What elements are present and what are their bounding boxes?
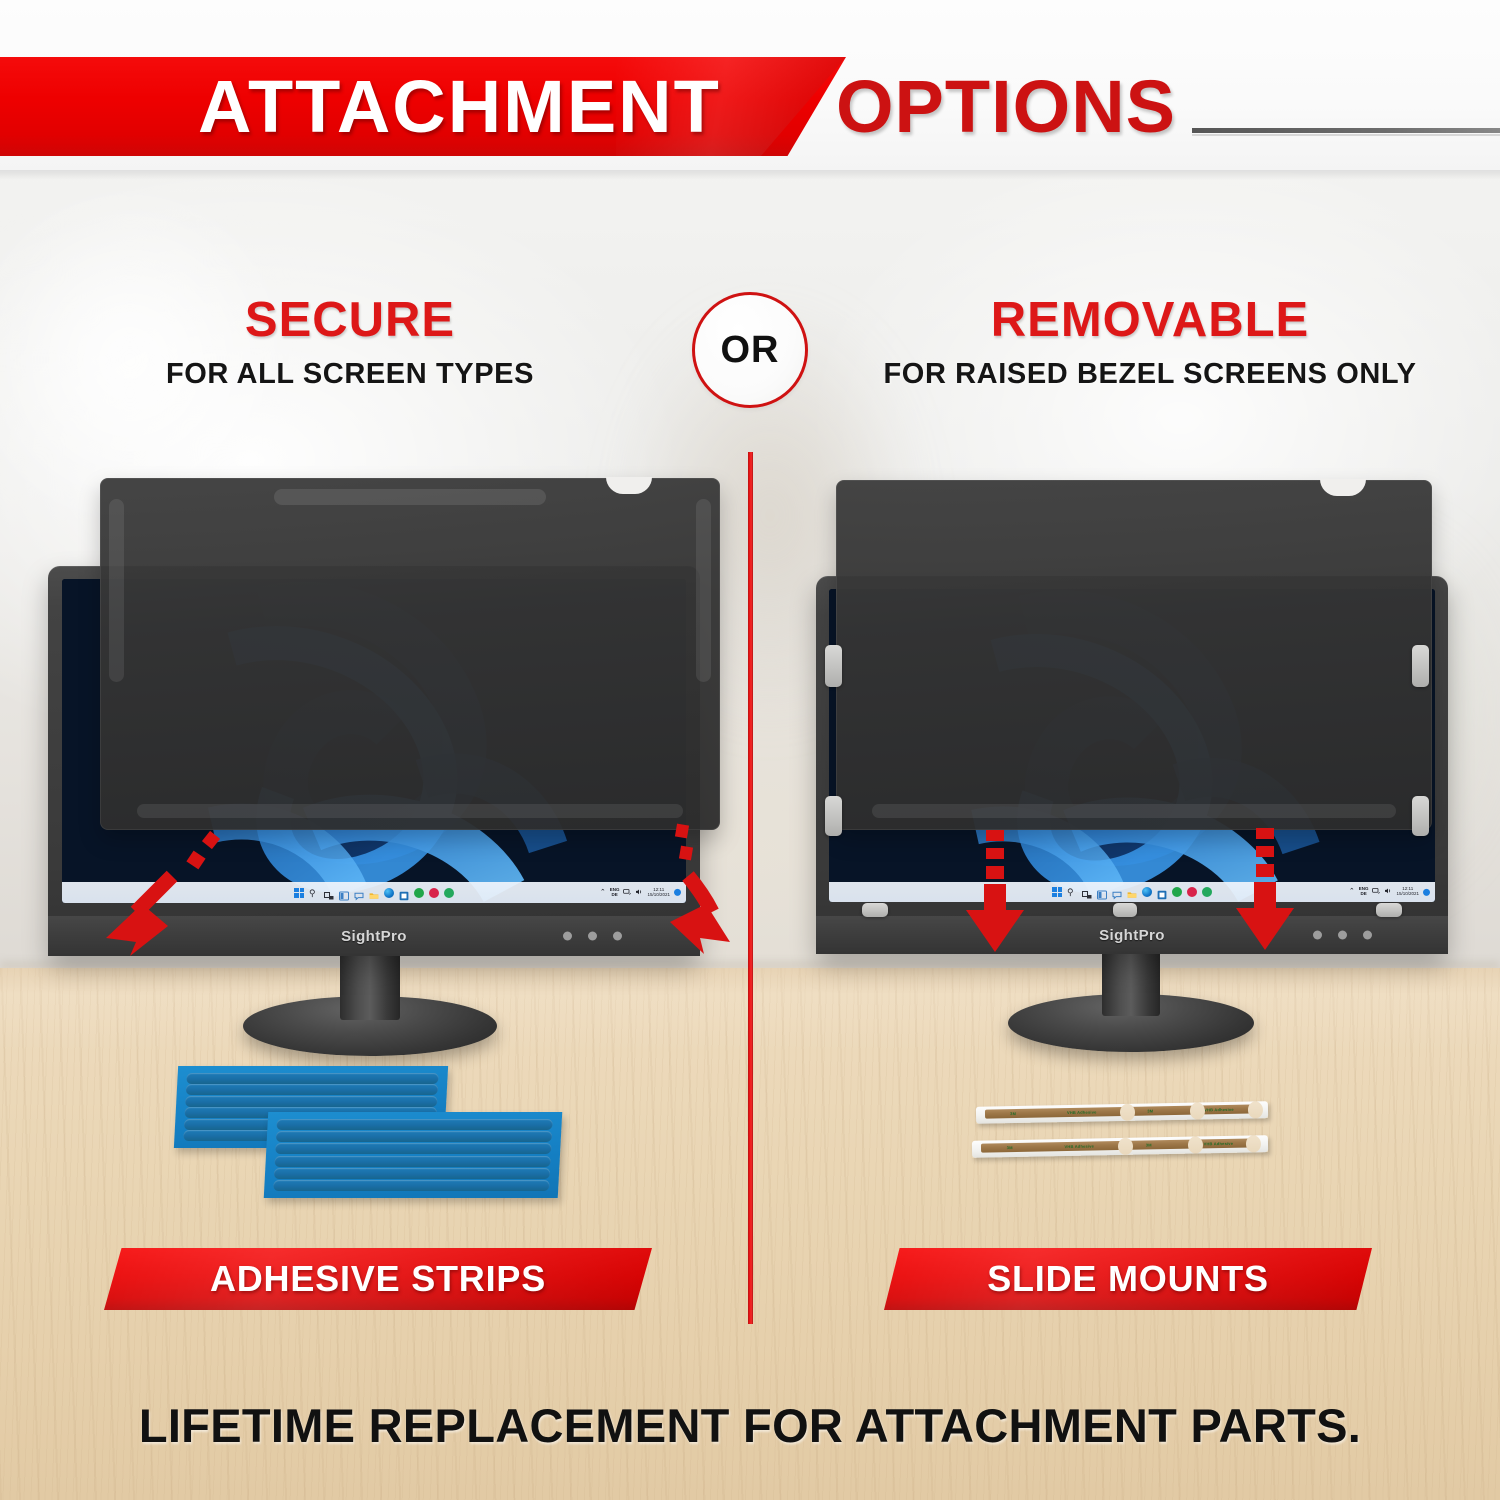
start-icon[interactable] [294,888,304,898]
adhesive-strip [186,1073,439,1084]
adhesive-strip [186,1084,439,1095]
chevron-up-icon[interactable]: ⌃ [1349,888,1355,895]
adhesive-strip [185,1096,438,1107]
monitor-right-stand-neck [1102,950,1160,1016]
option-title-removable: REMOVABLE [800,292,1500,348]
header-rule-secondary [1192,134,1500,136]
volume-icon[interactable] [1384,887,1392,897]
slide-mount-clip-chin-left [862,903,888,917]
widgets-icon[interactable] [1097,887,1107,897]
adhesive-strip [274,1168,551,1179]
privacy-filter-right[interactable] [836,480,1432,830]
monitor-right-chin: SightPro [816,916,1448,954]
slide-mount-clip-top-left [825,645,842,687]
filter-edge-left [109,499,124,682]
mount-type-text: VHB Adhesive [1204,1107,1234,1113]
language-indicator[interactable]: ENG DE [1359,887,1369,896]
search-icon[interactable]: ⚲ [1067,887,1077,897]
taskbar-tray-right[interactable]: ⌃ ENG DE 12:11 15/10/2021 [1349,887,1430,897]
header-title-options: OPTIONS [836,66,1176,148]
search-icon[interactable]: ⚲ [309,888,319,898]
monitor-left-stand-neck [340,952,400,1020]
filter-tab-bottom-right [872,804,1396,818]
taskbar-apps-left[interactable]: ⚲ [294,888,454,898]
arrow-down-left [962,830,1028,954]
filter-tab-top-left [274,489,547,505]
label-banner-slide-mounts: SLIDE MOUNTS [884,1248,1372,1310]
or-badge-label: OR [721,329,780,372]
start-icon[interactable] [1052,887,1062,897]
chat-icon[interactable] [354,888,364,898]
adhesive-strip [273,1180,550,1191]
filter-edge-right [696,499,711,682]
file-explorer-icon[interactable] [369,888,379,898]
edge-icon[interactable] [384,888,394,898]
action-center-icon[interactable] [1423,889,1430,896]
clock[interactable]: 12:11 15/10/2021 [1396,887,1419,896]
vertical-divider [748,452,753,1324]
monitor-left-brand: SightPro [341,928,407,945]
slide-mount-clip-bottom-left [825,796,842,836]
slide-mount-clip-bottom-right [1412,796,1429,836]
adhesive-strip [275,1143,552,1154]
language-line-2: DE [1360,892,1366,897]
store-icon[interactable] [1157,887,1167,897]
label-banner-adhesive-strips: ADHESIVE STRIPS [104,1248,652,1310]
label-banner-adhesive-text: ADHESIVE STRIPS [104,1248,652,1310]
option-subtitle-removable: FOR RAISED BEZEL SCREENS ONLY [800,356,1500,392]
chat-icon[interactable] [1112,887,1122,897]
privacy-filter-left[interactable] [100,478,720,830]
app-green-a-icon[interactable] [1172,887,1182,897]
or-badge: OR [692,292,808,408]
slide-mount-clip-chin-mid [1113,903,1137,917]
infographic-canvas: ATTACHMENT OPTIONS SECURE FOR ALL SCREEN… [0,0,1500,1500]
edge-icon[interactable] [1142,887,1152,897]
option-title-secure: SECURE [0,292,700,348]
app-green-o-icon[interactable] [444,888,454,898]
clock-date: 15/10/2021 [1396,892,1419,897]
header-baseline-shadow [0,170,1500,180]
option-subtitle-secure: FOR ALL SCREEN TYPES [0,356,700,392]
arrow-down-right [1232,828,1298,952]
filter-tab-bottom-left [137,804,683,818]
label-banner-slide-text: SLIDE MOUNTS [884,1248,1372,1310]
header-title-attachment: ATTACHMENT [198,66,721,148]
mount-type-text: VHB Adhesive [1067,1109,1097,1115]
taskbar-right[interactable]: ⚲ [829,882,1435,902]
file-explorer-icon[interactable] [1127,887,1137,897]
network-icon[interactable] [1372,887,1380,897]
adhesive-strip [276,1131,553,1142]
arrow-right-outward [588,826,738,960]
mount-type-text: VHB Adhesive [1064,1143,1094,1149]
header-banner: ATTACHMENT OPTIONS [0,0,1500,190]
task-view-icon[interactable] [1082,887,1092,897]
adhesive-sheet-front [264,1112,563,1198]
mount-brand-text: 3M [1007,1145,1013,1150]
app-red-o-icon[interactable] [429,888,439,898]
mount-type-text: VHB Adhesive [1203,1141,1233,1147]
widgets-icon[interactable] [339,888,349,898]
header-rule-primary [1192,128,1500,133]
slide-mount-clip-top-right [1412,645,1429,687]
option-heading-secure: SECURE FOR ALL SCREEN TYPES [0,292,700,392]
taskbar-apps-right[interactable]: ⚲ [1052,887,1212,897]
adhesive-strip [274,1156,551,1167]
adhesive-strip [276,1119,553,1130]
mount-brand-text: 3M [1010,1111,1016,1116]
app-green-a-icon[interactable] [414,888,424,898]
monitor-right-led-dots[interactable] [1313,931,1372,940]
filter-notch-left [606,477,652,494]
mount-brand-text: 3M [1147,1108,1153,1113]
footer-text: LIFETIME REPLACEMENT FOR ATTACHMENT PART… [0,1398,1500,1453]
store-icon[interactable] [399,888,409,898]
filter-notch-right [1320,479,1366,496]
arrow-left-outward [90,830,250,960]
app-red-o-icon[interactable] [1187,887,1197,897]
slide-mount-clip-chin-right [1376,903,1402,917]
task-view-icon[interactable] [324,888,334,898]
option-heading-removable: REMOVABLE FOR RAISED BEZEL SCREENS ONLY [800,292,1500,392]
mount-brand-text: 3M [1146,1142,1152,1147]
monitor-right-brand: SightPro [1099,927,1165,944]
app-green-o-icon[interactable] [1202,887,1212,897]
